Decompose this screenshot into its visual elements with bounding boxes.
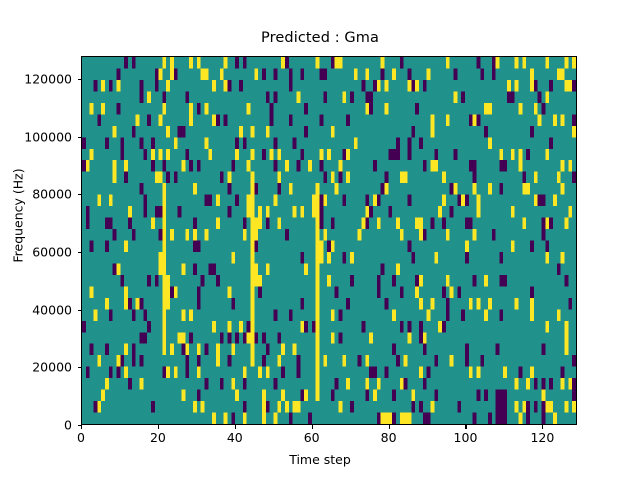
y-tick-label: 120000 — [24, 72, 72, 87]
x-tick-mark — [312, 425, 313, 429]
x-tick-label: 60 — [304, 430, 320, 445]
y-tick-mark — [78, 137, 82, 138]
heatmap-plot-area — [81, 56, 577, 425]
y-tick-mark — [78, 252, 82, 253]
y-tick-mark — [78, 310, 82, 311]
x-tick-label: 0 — [77, 430, 85, 445]
y-tick-mark — [78, 194, 82, 195]
matplotlib-figure: Predicted : Gma 020406080100120 02000040… — [0, 0, 640, 480]
x-tick-label: 100 — [454, 430, 478, 445]
y-tick-label: 40000 — [32, 302, 72, 317]
heatmap-image — [82, 57, 576, 424]
x-tick-mark — [81, 425, 82, 429]
y-axis-label: Frequency (Hz) — [11, 96, 26, 336]
y-tick-label: 0 — [64, 418, 72, 433]
x-axis-label: Time step — [0, 452, 640, 467]
y-tick-label: 100000 — [24, 129, 72, 144]
x-tick-mark — [465, 425, 466, 429]
y-tick-mark — [78, 425, 82, 426]
x-tick-mark — [235, 425, 236, 429]
y-tick-mark — [78, 79, 82, 80]
x-tick-label: 20 — [150, 430, 166, 445]
y-tick-label: 60000 — [32, 245, 72, 260]
y-tick-mark — [78, 367, 82, 368]
x-tick-label: 80 — [381, 430, 397, 445]
x-tick-mark — [389, 425, 390, 429]
y-tick-label: 80000 — [32, 187, 72, 202]
x-tick-mark — [158, 425, 159, 429]
page-title: Predicted : Gma — [0, 30, 640, 46]
x-tick-mark — [542, 425, 543, 429]
x-tick-label: 120 — [530, 430, 554, 445]
y-tick-label: 20000 — [32, 360, 72, 375]
x-tick-label: 40 — [227, 430, 243, 445]
